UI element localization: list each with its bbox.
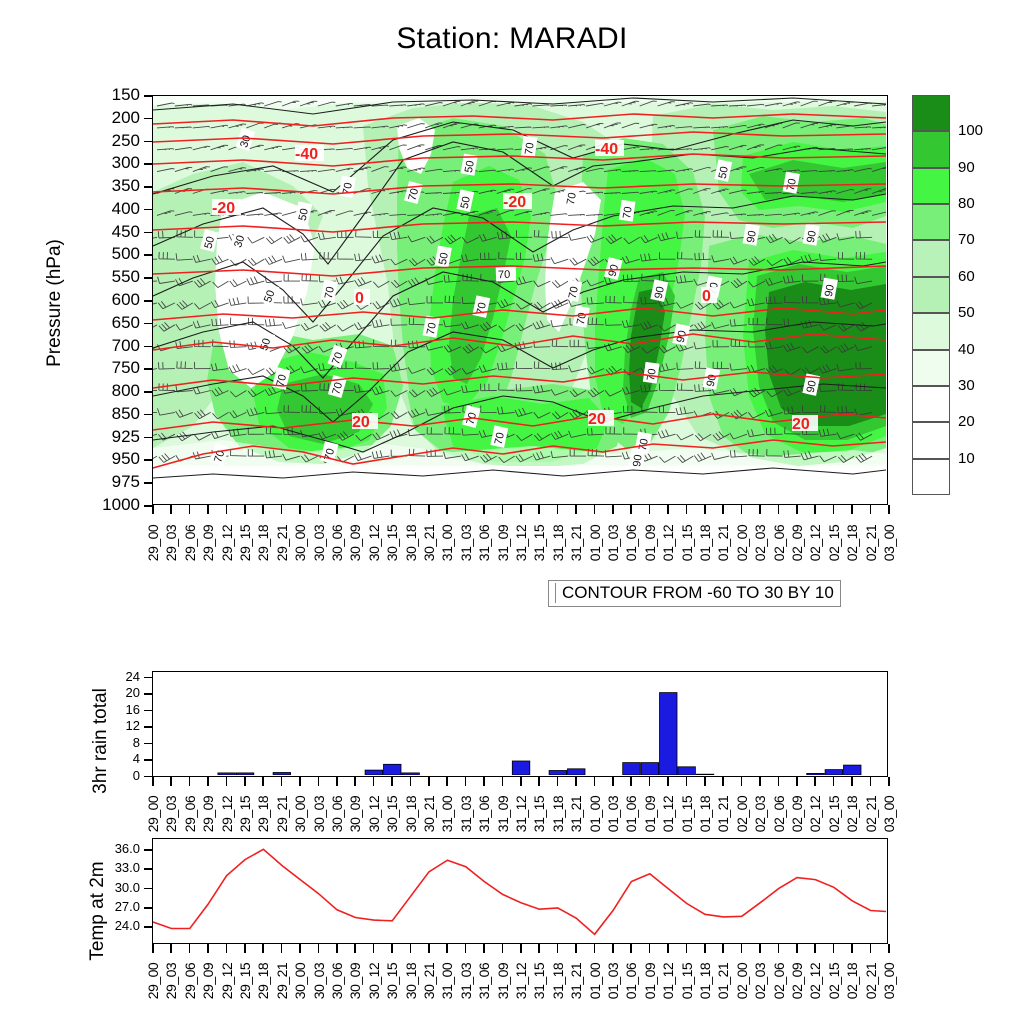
- rain-xtick-02_21: 02_21: [863, 785, 879, 843]
- main-xtick-mark: [594, 505, 596, 514]
- svg-text:-20: -20: [212, 200, 235, 217]
- main-xtick-mark: [667, 505, 669, 514]
- rain-bar: [273, 773, 291, 776]
- main-xtick-29_06: 29_06: [182, 514, 198, 572]
- rain-xtick-01_12: 01_12: [660, 785, 676, 843]
- main-xtick-mark: [226, 505, 228, 514]
- rain-xtick-31_12: 31_12: [513, 785, 529, 843]
- main-xtick-mark: [759, 505, 761, 514]
- temp-ytick-30.0: 30.0: [76, 880, 140, 895]
- main-xtick-mark: [888, 505, 890, 514]
- rain-xtick-31_00: 31_00: [439, 785, 455, 843]
- rain-bar: [365, 770, 383, 775]
- temp-xtick-29_00: 29_00: [145, 952, 161, 1010]
- main-xtick-29_15: 29_15: [237, 514, 253, 572]
- main-ytick-750: 750: [60, 358, 140, 378]
- main-xtick-30_03: 30_03: [311, 514, 327, 572]
- rain-xtick-01_21: 01_21: [715, 785, 731, 843]
- colorbar-cell-6: [912, 313, 950, 349]
- main-ytick-975: 975: [60, 472, 140, 492]
- rain-xtick-30_21: 30_21: [421, 785, 437, 843]
- main-xtick-29_03: 29_03: [163, 514, 179, 572]
- main-xtick-31_12: 31_12: [513, 514, 529, 572]
- main-xtick-mark: [630, 505, 632, 514]
- main-ytick-200: 200: [60, 108, 140, 128]
- rain-ytick-12: 12: [88, 718, 140, 733]
- main-xtick-02_21: 02_21: [863, 514, 879, 572]
- temp-xtick-29_15: 29_15: [237, 952, 253, 1010]
- main-xtick-mark: [299, 505, 301, 514]
- svg-text:-20: -20: [503, 194, 526, 211]
- main-xtick-29_21: 29_21: [274, 514, 290, 572]
- main-xtick-01_21: 01_21: [715, 514, 731, 572]
- main-xtick-01_03: 01_03: [605, 514, 621, 572]
- temp-xtick-30_03: 30_03: [311, 952, 327, 1010]
- main-ytick-1000: 1000: [60, 495, 140, 515]
- rain-xtick-02_18: 02_18: [844, 785, 860, 843]
- main-xtick-31_06: 31_06: [476, 514, 492, 572]
- temp-xtick-29_18: 29_18: [255, 952, 271, 1010]
- main-xtick-mark: [520, 505, 522, 514]
- svg-text:50: 50: [459, 195, 473, 209]
- main-xtick-mark: [557, 505, 559, 514]
- colorbar-cell-9: [912, 422, 950, 458]
- temp-xtick-29_03: 29_03: [163, 952, 179, 1010]
- colorbar-cell-3: [912, 204, 950, 240]
- rain-xtick-29_12: 29_12: [219, 785, 235, 843]
- temp-xtick-31_15: 31_15: [531, 952, 547, 1010]
- svg-text:70: 70: [785, 178, 799, 192]
- temp-xtick-29_12: 29_12: [219, 952, 235, 1010]
- rain-xtick-01_00: 01_00: [587, 785, 603, 843]
- rain-plot-frame: [152, 671, 888, 777]
- colorbar-label-10: 10: [958, 450, 975, 467]
- main-ytick-150: 150: [60, 85, 140, 105]
- rain-xtick-29_09: 29_09: [200, 785, 216, 843]
- main-xtick-02_15: 02_15: [826, 514, 842, 572]
- colorbar: 100908070605040302010: [912, 95, 1022, 495]
- rain-xtick-30_18: 30_18: [403, 785, 419, 843]
- rain-xtick-30_12: 30_12: [366, 785, 382, 843]
- colorbar-label-40: 40: [958, 341, 975, 358]
- main-xtick-02_06: 02_06: [771, 514, 787, 572]
- main-ytick-400: 400: [60, 199, 140, 219]
- main-xtick-01_09: 01_09: [642, 514, 658, 572]
- temp-line-canvas: [153, 839, 886, 942]
- main-xtick-30_00: 30_00: [292, 514, 308, 572]
- main-xtick-mark: [354, 505, 356, 514]
- main-xtick-mark: [612, 505, 614, 514]
- rain-xtick-01_06: 01_06: [623, 785, 639, 843]
- rain-bar: [512, 761, 530, 775]
- main-xtick-mark: [207, 505, 209, 514]
- main-xtick-mark: [870, 505, 872, 514]
- temp-xtick-02_06: 02_06: [771, 952, 787, 1010]
- main-xtick-02_18: 02_18: [844, 514, 860, 572]
- main-ytick-850: 850: [60, 404, 140, 424]
- temp-xtick-30_06: 30_06: [329, 952, 345, 1010]
- main-ytick-925: 925: [60, 427, 140, 447]
- main-xtick-31_18: 31_18: [550, 514, 566, 572]
- main-xtick-mark: [686, 505, 688, 514]
- main-ytick-250: 250: [60, 131, 140, 151]
- main-xtick-29_18: 29_18: [255, 514, 271, 572]
- colorbar-label-70: 70: [958, 231, 975, 248]
- rain-bar: [844, 765, 862, 775]
- main-ytick-800: 800: [60, 381, 140, 401]
- temp-xtick-01_00: 01_00: [587, 952, 603, 1010]
- temp-xtick-31_21: 31_21: [568, 952, 584, 1010]
- main-xtick-mark: [796, 505, 798, 514]
- rain-bar: [568, 769, 586, 775]
- main-xtick-mark: [465, 505, 467, 514]
- main-xtick-mark: [410, 505, 412, 514]
- main-xtick-mark: [281, 505, 283, 514]
- colorbar-cell-2: [912, 168, 950, 204]
- temp-xtick-02_21: 02_21: [863, 952, 879, 1010]
- main-xtick-mark: [189, 505, 191, 514]
- main-xtick-mark: [575, 505, 577, 514]
- contour-info-box: CONTOUR FROM -60 TO 30 BY 10: [548, 580, 841, 607]
- main-xtick-mark: [170, 505, 172, 514]
- temp-xtick-03_00: 03_00: [881, 952, 897, 1010]
- temp-xtick-01_12: 01_12: [660, 952, 676, 1010]
- colorbar-label-20: 20: [958, 413, 975, 430]
- temp-xtick-01_15: 01_15: [679, 952, 695, 1010]
- rain-bar: [384, 764, 402, 775]
- svg-text:90: 90: [653, 285, 667, 299]
- temp-xtick-31_06: 31_06: [476, 952, 492, 1010]
- svg-text:70: 70: [621, 206, 635, 220]
- rain-xtick-31_06: 31_06: [476, 785, 492, 843]
- main-xtick-mark: [741, 505, 743, 514]
- colorbar-cell-1: [912, 131, 950, 167]
- rain-bar: [549, 771, 567, 776]
- rain-xtick-02_06: 02_06: [771, 785, 787, 843]
- main-ytick-650: 650: [60, 313, 140, 333]
- svg-text:90: 90: [631, 454, 645, 468]
- main-xtick-mark: [373, 505, 375, 514]
- rain-xtick-31_21: 31_21: [568, 785, 584, 843]
- temp-xtick-01_21: 01_21: [715, 952, 731, 1010]
- rain-ytick-0: 0: [88, 768, 140, 783]
- temp-ytick-36.0: 36.0: [76, 841, 140, 856]
- rain-ytick-4: 4: [88, 751, 140, 766]
- svg-text:70: 70: [523, 142, 537, 156]
- svg-text:50: 50: [437, 252, 451, 266]
- temp-xtick-31_18: 31_18: [550, 952, 566, 1010]
- svg-text:70: 70: [567, 285, 581, 299]
- rain-xtick-31_09: 31_09: [495, 785, 511, 843]
- colorbar-label-80: 80: [958, 195, 975, 212]
- temp-xtick-30_21: 30_21: [421, 952, 437, 1010]
- main-xtick-29_00: 29_00: [145, 514, 161, 572]
- temp-xtick-29_21: 29_21: [274, 952, 290, 1010]
- main-xtick-mark: [318, 505, 320, 514]
- rain-xtick-30_03: 30_03: [311, 785, 327, 843]
- temp-xtick-01_06: 01_06: [623, 952, 639, 1010]
- svg-text:70: 70: [323, 286, 337, 300]
- main-xtick-30_18: 30_18: [403, 514, 419, 572]
- main-ytick-700: 700: [60, 336, 140, 356]
- rain-ytick-16: 16: [88, 702, 140, 717]
- temp-xtick-01_09: 01_09: [642, 952, 658, 1010]
- temp-xtick-30_15: 30_15: [384, 952, 400, 1010]
- main-xtick-30_09: 30_09: [347, 514, 363, 572]
- main-xtick-mark: [649, 505, 651, 514]
- colorbar-label-90: 90: [958, 159, 975, 176]
- main-xtick-mark: [483, 505, 485, 514]
- temp-ytick-27.0: 27.0: [76, 899, 140, 914]
- rain-bar: [218, 773, 236, 775]
- temp-xtick-31_12: 31_12: [513, 952, 529, 1010]
- main-xtick-mark: [538, 505, 540, 514]
- main-xtick-29_12: 29_12: [219, 514, 235, 572]
- temp-xtick-30_12: 30_12: [366, 952, 382, 1010]
- temp-xtick-02_18: 02_18: [844, 952, 860, 1010]
- rain-xtick-01_03: 01_03: [605, 785, 621, 843]
- main-xtick-02_03: 02_03: [752, 514, 768, 572]
- main-xtick-mark: [244, 505, 246, 514]
- rain-ytick-24: 24: [88, 669, 140, 684]
- rain-xtick-02_12: 02_12: [807, 785, 823, 843]
- rain-xtick-01_15: 01_15: [679, 785, 695, 843]
- main-xtick-mark: [851, 505, 853, 514]
- main-xtick-mark: [502, 505, 504, 514]
- rain-bar: [623, 763, 641, 775]
- rain-xtick-02_09: 02_09: [789, 785, 805, 843]
- main-xtick-mark: [722, 505, 724, 514]
- temp-xtick-01_18: 01_18: [697, 952, 713, 1010]
- temp-xtick-02_12: 02_12: [807, 952, 823, 1010]
- main-ytick-550: 550: [60, 267, 140, 287]
- svg-text:70: 70: [498, 269, 511, 281]
- main-xtick-mark: [262, 505, 264, 514]
- page-title: Station: MARADI: [0, 22, 1024, 56]
- svg-text:0: 0: [702, 288, 711, 305]
- svg-text:90: 90: [745, 230, 759, 244]
- temp-xtick-29_09: 29_09: [200, 952, 216, 1010]
- rain-xtick-03_00: 03_00: [881, 785, 897, 843]
- colorbar-cell-7: [912, 350, 950, 386]
- rain-xtick-29_03: 29_03: [163, 785, 179, 843]
- temp-xtick-30_09: 30_09: [347, 952, 363, 1010]
- rain-xtick-29_15: 29_15: [237, 785, 253, 843]
- main-ytick-350: 350: [60, 176, 140, 196]
- rain-bar: [825, 770, 843, 775]
- svg-text:50: 50: [717, 165, 731, 179]
- svg-text:20: 20: [792, 416, 810, 433]
- rain-bar: [807, 773, 825, 775]
- svg-text:90: 90: [805, 379, 819, 393]
- rain-bar: [678, 767, 696, 775]
- temp-xtick-31_09: 31_09: [495, 952, 511, 1010]
- temp-ytick-33.0: 33.0: [76, 860, 140, 875]
- rain-xtick-30_09: 30_09: [347, 785, 363, 843]
- main-xtick-03_00: 03_00: [881, 514, 897, 572]
- contour-info-text: CONTOUR FROM -60 TO 30 BY 10: [555, 583, 834, 603]
- colorbar-label-100: 100: [958, 122, 983, 139]
- main-ytick-450: 450: [60, 222, 140, 242]
- main-xtick-mark: [446, 505, 448, 514]
- svg-text:90: 90: [805, 230, 819, 244]
- svg-text:70: 70: [493, 431, 507, 445]
- svg-text:20: 20: [588, 411, 606, 428]
- rain-xtick-01_09: 01_09: [642, 785, 658, 843]
- main-xtick-mark: [814, 505, 816, 514]
- rain-xtick-02_00: 02_00: [734, 785, 750, 843]
- temp-xtick-30_18: 30_18: [403, 952, 419, 1010]
- main-xtick-01_06: 01_06: [623, 514, 639, 572]
- rain-bar: [641, 763, 659, 775]
- main-xtick-30_21: 30_21: [421, 514, 437, 572]
- rain-bar: [236, 773, 254, 775]
- rain-ytick-20: 20: [88, 685, 140, 700]
- rain-bar: [660, 693, 678, 775]
- rain-bars-canvas: [153, 672, 886, 775]
- rain-xtick-02_03: 02_03: [752, 785, 768, 843]
- colorbar-label-60: 60: [958, 268, 975, 285]
- rain-xtick-31_03: 31_03: [458, 785, 474, 843]
- rain-bar: [402, 773, 420, 775]
- main-xtick-31_09: 31_09: [495, 514, 511, 572]
- colorbar-cell-0: [912, 95, 950, 131]
- svg-text:-40: -40: [295, 146, 318, 163]
- temp-xtick-02_15: 02_15: [826, 952, 842, 1010]
- cross-section-canvas: 30 70 70 30 50 50 70 50 70 70 50 70 50 5…: [153, 96, 886, 503]
- svg-text:20: 20: [352, 414, 370, 431]
- rain-bar: [696, 774, 714, 775]
- colorbar-cell-4: [912, 240, 950, 276]
- main-xtick-30_12: 30_12: [366, 514, 382, 572]
- main-xtick-01_00: 01_00: [587, 514, 603, 572]
- svg-text:50: 50: [463, 160, 477, 174]
- rain-xtick-29_06: 29_06: [182, 785, 198, 843]
- svg-text:70: 70: [425, 322, 439, 336]
- svg-text:70: 70: [565, 192, 579, 206]
- main-xtick-31_21: 31_21: [568, 514, 584, 572]
- temp-xtick-01_03: 01_03: [605, 952, 621, 1010]
- main-xtick-mark: [391, 505, 393, 514]
- temp-ytick-24.0: 24.0: [76, 918, 140, 933]
- main-ytick-500: 500: [60, 244, 140, 264]
- main-plot-frame: 30 70 70 30 50 50 70 50 70 70 50 70 50 5…: [152, 95, 888, 505]
- main-xtick-01_12: 01_12: [660, 514, 676, 572]
- svg-text:50: 50: [297, 207, 311, 221]
- main-xtick-02_12: 02_12: [807, 514, 823, 572]
- temp-xtick-02_09: 02_09: [789, 952, 805, 1010]
- rain-xtick-02_15: 02_15: [826, 785, 842, 843]
- main-xtick-mark: [778, 505, 780, 514]
- main-ytick-600: 600: [60, 290, 140, 310]
- main-xtick-02_00: 02_00: [734, 514, 750, 572]
- svg-text:90: 90: [823, 284, 837, 298]
- main-xtick-mark: [704, 505, 706, 514]
- rain-xtick-31_18: 31_18: [550, 785, 566, 843]
- rain-ytick-8: 8: [88, 735, 140, 750]
- main-ytick-950: 950: [60, 449, 140, 469]
- main-ytick-300: 300: [60, 153, 140, 173]
- colorbar-cell-5: [912, 277, 950, 313]
- svg-text:0: 0: [355, 290, 364, 307]
- main-xtick-02_09: 02_09: [789, 514, 805, 572]
- main-xtick-01_15: 01_15: [679, 514, 695, 572]
- rain-xtick-01_18: 01_18: [697, 785, 713, 843]
- main-xtick-29_09: 29_09: [200, 514, 216, 572]
- svg-text:-40: -40: [595, 141, 618, 158]
- rain-xtick-30_00: 30_00: [292, 785, 308, 843]
- main-xtick-01_18: 01_18: [697, 514, 713, 572]
- main-xtick-31_03: 31_03: [458, 514, 474, 572]
- rain-xtick-30_15: 30_15: [384, 785, 400, 843]
- temp-xtick-30_00: 30_00: [292, 952, 308, 1010]
- main-xtick-mark: [833, 505, 835, 514]
- colorbar-label-30: 30: [958, 377, 975, 394]
- temp-xtick-31_00: 31_00: [439, 952, 455, 1010]
- rain-xtick-31_15: 31_15: [531, 785, 547, 843]
- temp-xtick-02_03: 02_03: [752, 952, 768, 1010]
- main-xtick-mark: [428, 505, 430, 514]
- main-xtick-30_15: 30_15: [384, 514, 400, 572]
- temp-plot-frame: [152, 838, 888, 944]
- colorbar-cell-10: [912, 459, 950, 495]
- main-xtick-30_06: 30_06: [329, 514, 345, 572]
- rain-xtick-29_00: 29_00: [145, 785, 161, 843]
- rain-xtick-29_21: 29_21: [274, 785, 290, 843]
- temp-xtick-29_06: 29_06: [182, 952, 198, 1010]
- rain-xtick-29_18: 29_18: [255, 785, 271, 843]
- main-xtick-31_00: 31_00: [439, 514, 455, 572]
- temp-xtick-02_00: 02_00: [734, 952, 750, 1010]
- rain-xtick-30_06: 30_06: [329, 785, 345, 843]
- temp-xtick-31_03: 31_03: [458, 952, 474, 1010]
- colorbar-cell-8: [912, 386, 950, 422]
- main-xtick-mark: [152, 505, 154, 514]
- main-xtick-mark: [336, 505, 338, 514]
- colorbar-label-50: 50: [958, 304, 975, 321]
- main-xtick-31_15: 31_15: [531, 514, 547, 572]
